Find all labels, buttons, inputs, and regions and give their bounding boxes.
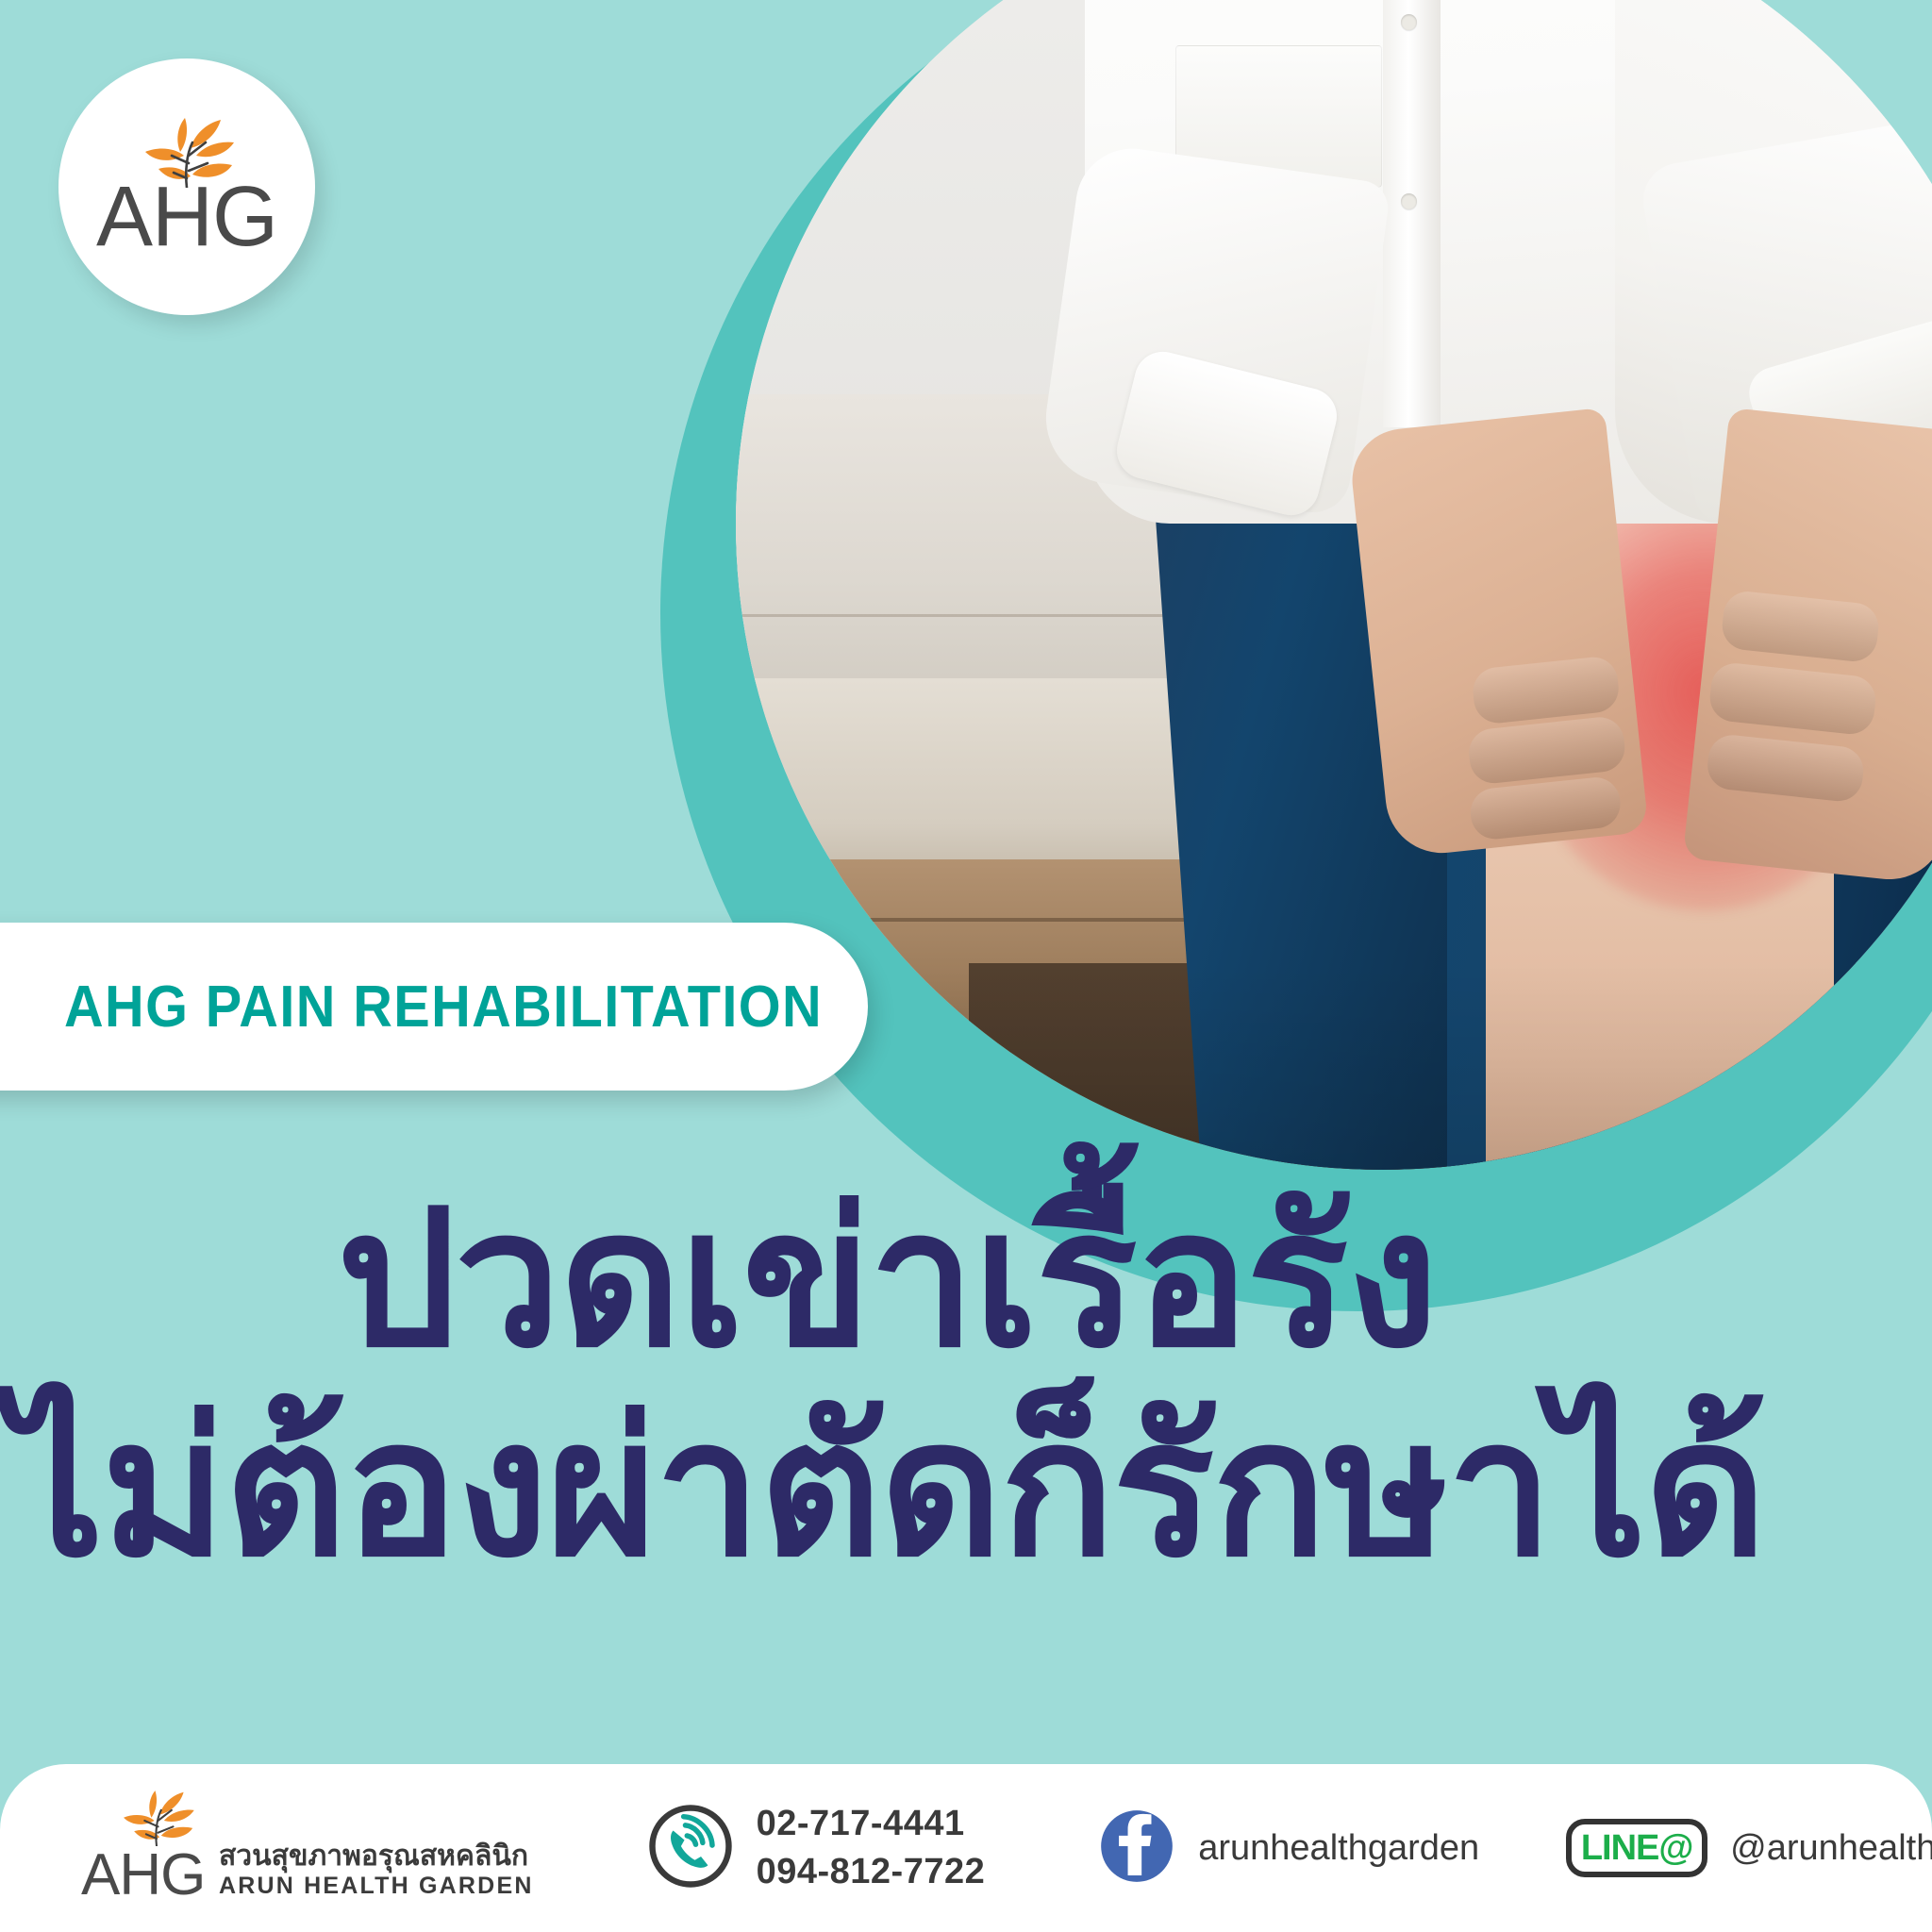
photo-shirt-button [1401,14,1417,30]
photo-bottom-shade [736,963,1932,1170]
line-handle: @arunhealthgarden [1730,1828,1932,1869]
poster-canvas: AHG AHG PAIN REHABILITATION ปวดเข่าเรื้อ… [0,0,1932,1932]
category-badge-label: AHG PAIN REHABILITATION [64,974,823,1041]
line-at-icon: LINE@ [1566,1819,1707,1877]
photo-hand-left [1347,408,1649,858]
headline: ปวดเข่าเรื้อรัง ไม่ต้องผ่าตัดก็รักษาได้ [0,1184,1774,1586]
phone-number-2: 094-812-7722 [757,1848,986,1896]
headline-line-2: ไม่ต้องผ่าตัดก็รักษาได้ [0,1393,1774,1586]
phone-call-icon [647,1803,734,1894]
facebook-handle: arunhealthgarden [1198,1828,1479,1869]
leaf-branch-icon [111,1788,202,1846]
footer-bar: AHG สวนสุขภาพอรุณสหคลินิก ARUN HEALTH GA… [0,1764,1932,1932]
footer-logo-english-name: ARUN HEALTH GARDEN [219,1873,534,1899]
facebook-icon [1096,1806,1177,1891]
category-badge: AHG PAIN REHABILITATION [0,923,868,1091]
hero-photo [736,0,1932,1170]
footer-logo-names: สวนสุขภาพอรุณสหคลินิก ARUN HEALTH GARDEN [219,1840,534,1899]
footer-logo-thai-name: สวนสุขภาพอรุณสหคลินิก [219,1840,534,1873]
brand-initials: AHG [96,175,277,259]
phone-number-1: 02-717-4441 [757,1800,986,1848]
footer-line[interactable]: LINE@ @arunhealthgarden [1566,1819,1932,1877]
footer-logo-mark: AHG [81,1791,206,1905]
line-badge-label: LINE@ [1581,1830,1693,1866]
footer-logo: AHG สวนสุขภาพอรุณสหคลินิก ARUN HEALTH GA… [81,1791,534,1905]
phone-numbers: 02-717-4441 094-812-7722 [757,1800,986,1896]
headline-line-1: ปวดเข่าเรื้อรัง [0,1184,1774,1376]
photo-shirt-button [1401,193,1417,209]
footer-facebook[interactable]: arunhealthgarden [1096,1806,1479,1891]
footer-logo-initials: AHG [81,1846,205,1905]
photo-shirt-placket [1383,0,1441,427]
brand-logo-badge: AHG [58,58,315,315]
footer-phone[interactable]: 02-717-4441 094-812-7722 [647,1800,986,1896]
